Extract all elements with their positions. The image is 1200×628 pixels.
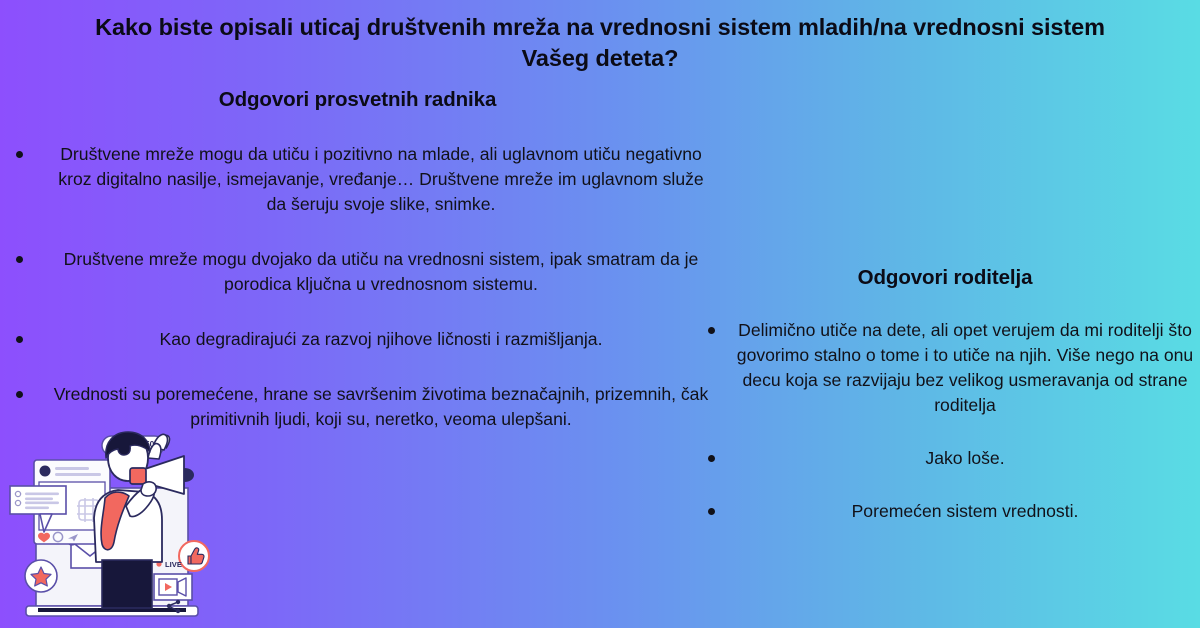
bullet-dot-icon [708, 508, 715, 515]
list-item-text: Društvene mreže mogu da utiču i pozitivn… [58, 144, 703, 214]
thumbs-up-badge-icon [179, 541, 209, 571]
teachers-answers-list: Društvene mreže mogu da utiču i pozitivn… [8, 142, 714, 455]
bullet-dot-icon [16, 256, 23, 263]
bullet-dot-icon [16, 391, 23, 398]
list-item-text: Vrednosti su poremećene, hrane se savrše… [54, 384, 709, 429]
list-item-text: Društvene mreže mogu dvojako da utiču na… [64, 249, 699, 294]
bullet-dot-icon [16, 151, 23, 158]
list-item-text: Delimično utiče na dete, ali opet veruje… [737, 320, 1193, 415]
list-item: Jako loše. [700, 446, 1196, 471]
list-item: Društvene mreže mogu da utiču i pozitivn… [8, 142, 714, 217]
list-item-text: Poremećen sistem vrednosti. [852, 501, 1079, 521]
bullet-dot-icon [708, 327, 715, 334]
bullet-dot-icon [16, 336, 23, 343]
list-item-text: Kao degradirajući za razvoj njihove ličn… [160, 329, 603, 349]
list-item: Društvene mreže mogu dvojako da utiču na… [8, 247, 714, 297]
social-media-illustration: 3K 500 LIVE [8, 428, 220, 628]
list-item: Kao degradirajući za razvoj njihove ličn… [8, 327, 714, 352]
live-label: LIVE [165, 560, 182, 569]
page-title: Kako biste opisali uticaj društvenih mre… [95, 12, 1105, 75]
star-badge-icon [25, 560, 57, 592]
slide-canvas: Kako biste opisali uticaj društvenih mre… [0, 0, 1200, 628]
avatar [40, 466, 51, 477]
list-item: Vrednosti su poremećene, hrane se savrše… [8, 382, 714, 432]
bullet-dot-icon [708, 455, 715, 462]
parents-answers-list: Delimično utiče na dete, ali opet veruje… [700, 318, 1196, 547]
parents-column-heading: Odgovori roditelja [700, 266, 1190, 290]
list-item: Delimično utiče na dete, ali opet veruje… [700, 318, 1196, 418]
list-item-text: Jako loše. [925, 448, 1004, 468]
list-item: Poremećen sistem vrednosti. [700, 499, 1196, 524]
teachers-column-heading: Odgovori prosvetnih radnika [50, 88, 665, 112]
